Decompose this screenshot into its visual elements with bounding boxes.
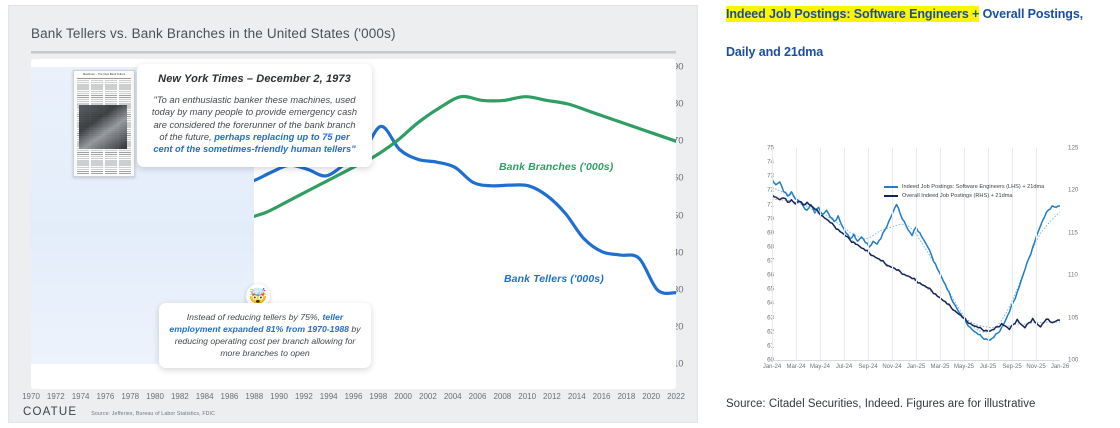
right-title-line2: Daily and 21dma <box>726 45 823 59</box>
title-divider <box>31 51 676 54</box>
right-chart-x-tick: Jul-25 <box>980 364 996 370</box>
left-chart-x-axis: 1970197219741976197819801982198419861988… <box>31 392 676 406</box>
x-tick: 2008 <box>493 392 511 401</box>
right-chart-gridline <box>844 148 845 360</box>
bank-tellers-chart-panel: Bank Tellers vs. Bank Branches in the Un… <box>8 5 698 423</box>
x-tick: 1994 <box>320 392 338 401</box>
indeed-chart: 6061626364656667686970717273747510010511… <box>728 140 1110 380</box>
screenshot-root: Bank Tellers vs. Bank Branches in the Un… <box>0 0 1120 428</box>
legend-label-software-engineers: Indeed Job Postings: Software Engineers … <box>902 184 1044 190</box>
right-chart-x-tick: Jan-26 <box>1051 364 1069 370</box>
right-chart-x-tick: Nov-25 <box>1026 364 1045 370</box>
left-panel-footer: COATUE Source: Jefferies, Bureau of Labo… <box>23 406 215 418</box>
left-chart-title: Bank Tellers vs. Bank Branches in the Un… <box>31 26 396 41</box>
right-chart-gridline <box>772 148 773 360</box>
newspaper-clipping-image: Machines – The New Bank Tellers <box>73 70 135 177</box>
left-chart-source: Source: Jefferies, Bureau of Labor Stati… <box>91 411 215 417</box>
right-chart-y-tick-right: 105 <box>1068 314 1078 321</box>
right-title-rest: Overall Postings, <box>979 7 1083 21</box>
x-tick: 1996 <box>345 392 363 401</box>
right-chart-x-tick: Nov-24 <box>882 364 901 370</box>
x-tick: 1978 <box>121 392 139 401</box>
x-tick: 1988 <box>245 392 263 401</box>
right-chart-gridline <box>988 148 989 360</box>
right-chart-x-tick: May-25 <box>954 364 974 370</box>
right-chart-x-tick: Mar-25 <box>930 364 949 370</box>
right-chart-y-tick-right: 100 <box>1068 357 1078 364</box>
right-chart-y-tick-right: 110 <box>1068 272 1078 279</box>
teller-employment-callout: Instead of reducing tellers by 75%, tell… <box>159 303 371 368</box>
legend-item-software-engineers: Indeed Job Postings: Software Engineers … <box>884 184 1044 190</box>
right-chart-gridline <box>1012 148 1013 360</box>
right-chart-x-tick: May-24 <box>810 364 830 370</box>
x-tick: 2012 <box>543 392 561 401</box>
right-chart-gridline <box>1036 148 1037 360</box>
x-tick: 1974 <box>72 392 90 401</box>
right-chart-x-tick: Mar-24 <box>786 364 805 370</box>
x-tick: 2000 <box>394 392 412 401</box>
x-tick: 1992 <box>295 392 313 401</box>
right-chart-baseline <box>772 360 1060 361</box>
right-chart-x-tick: Jan-25 <box>907 364 925 370</box>
x-tick: 2002 <box>419 392 437 401</box>
legend-swatch-software-engineers <box>884 186 898 188</box>
x-tick: 2020 <box>642 392 660 401</box>
right-chart-y-tick-right: 125 <box>1068 145 1078 152</box>
x-tick: 1976 <box>97 392 115 401</box>
clipping-photo <box>79 105 127 149</box>
right-chart-gridline <box>868 148 869 360</box>
x-tick: 1990 <box>270 392 288 401</box>
left-chart-y-axis-right: 102030405060708090 <box>673 59 703 389</box>
indeed-job-postings-panel: Indeed Job Postings: Software Engineers … <box>718 0 1120 428</box>
clipping-headline: Machines – The New Bank Tellers <box>77 73 131 79</box>
teller-callout-text: Instead of reducing tellers by 75%, tell… <box>169 311 361 359</box>
right-chart-x-tick: Sep-24 <box>858 364 877 370</box>
right-chart-gridline <box>796 148 797 360</box>
right-chart-plot-area <box>772 148 1060 360</box>
right-title-line1: Indeed Job Postings: Software Engineers … <box>726 7 1083 21</box>
right-chart-gridline <box>916 148 917 360</box>
x-tick: 1980 <box>146 392 164 401</box>
right-chart-y-tick-right: 115 <box>1068 229 1078 236</box>
x-tick: 1984 <box>196 392 214 401</box>
x-tick: 2004 <box>444 392 462 401</box>
coatue-logo: COATUE <box>23 406 77 418</box>
right-chart-legend: Indeed Job Postings: Software Engineers … <box>884 184 1044 202</box>
right-title-highlighted: Indeed Job Postings: Software Engineers … <box>726 6 979 22</box>
x-tick: 1970 <box>22 392 40 401</box>
series-label-bank-branches: Bank Branches ('000s) <box>499 161 613 173</box>
x-tick: 2014 <box>568 392 586 401</box>
x-tick: 2018 <box>617 392 635 401</box>
series-label-bank-tellers: Bank Tellers ('000s) <box>504 273 604 285</box>
right-chart-x-tick: Sep-25 <box>1002 364 1021 370</box>
x-tick: 2022 <box>667 392 685 401</box>
right-chart-gridline <box>892 148 893 360</box>
right-chart-x-tick: Jan-24 <box>763 364 781 370</box>
nyt-callout-heading: New York Times – December 2, 1973 <box>149 73 360 85</box>
nyt-callout-quote: "To an enthusiastic banker these machine… <box>149 94 360 156</box>
x-tick: 2006 <box>469 392 487 401</box>
legend-item-overall-postings: Overall Indeed Job Postings (RHS) + 21dm… <box>884 193 1044 199</box>
x-tick: 1982 <box>171 392 189 401</box>
right-chart-x-tick: Jul-24 <box>836 364 852 370</box>
x-tick: 2016 <box>593 392 611 401</box>
x-tick: 1998 <box>369 392 387 401</box>
teller-text-part1: Instead of reducing tellers by 75%, <box>187 312 323 322</box>
legend-swatch-overall-postings <box>884 195 898 197</box>
x-tick: 1972 <box>47 392 65 401</box>
right-chart-gridline <box>940 148 941 360</box>
nyt-quote-callout: New York Times – December 2, 1973 "To an… <box>137 64 372 167</box>
right-chart-gridline <box>964 148 965 360</box>
right-chart-source: Source: Citadel Securities, Indeed. Figu… <box>726 398 1035 410</box>
x-tick: 2010 <box>518 392 536 401</box>
legend-label-overall-postings: Overall Indeed Job Postings (RHS) + 21dm… <box>902 193 1013 199</box>
right-chart-gridline <box>820 148 821 360</box>
x-tick: 1986 <box>221 392 239 401</box>
right-chart-y-tick-right: 120 <box>1068 187 1078 194</box>
